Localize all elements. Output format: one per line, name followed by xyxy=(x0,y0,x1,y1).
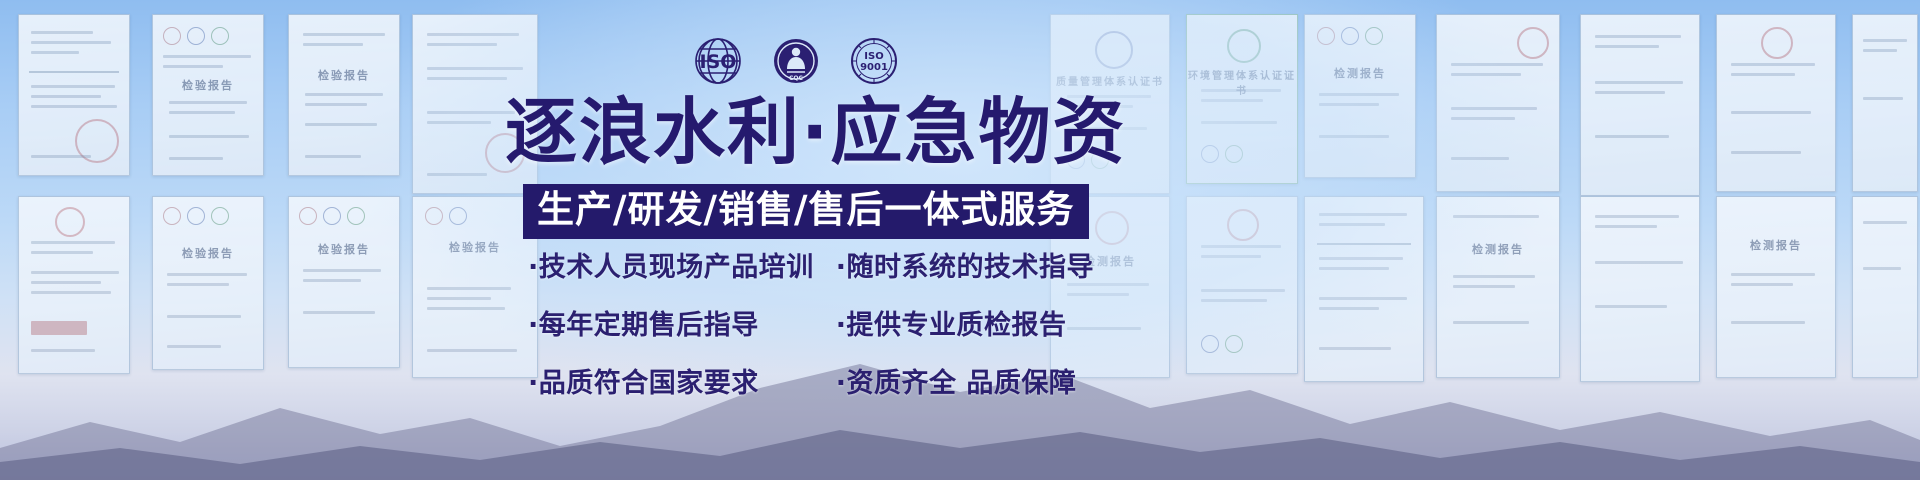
certificate-title: 检验报告 xyxy=(153,77,263,93)
certificate-thumbnail: 检验报告 xyxy=(152,14,264,176)
certificate-title: 检验报告 xyxy=(289,67,399,83)
certificate-thumbnail xyxy=(1580,14,1700,196)
certificate-title: 检验报告 xyxy=(153,245,263,261)
certificate-thumbnail xyxy=(1436,14,1560,192)
certificate-thumbnail xyxy=(1716,14,1836,192)
svg-text:CQC: CQC xyxy=(789,75,804,82)
certificate-thumbnail xyxy=(18,14,130,176)
certificate-thumbnail: 检验报告 xyxy=(288,14,400,176)
list-item: ·随时系统的技术指导 xyxy=(836,245,1094,284)
certificate-title: 检测报告 xyxy=(1305,65,1415,81)
feature-bullets-left-column: ·技术人员现场产品培训 ·每年定期售后指导 ·品质符合国家要求 xyxy=(528,245,814,400)
list-item: ·品质符合国家要求 xyxy=(528,361,814,400)
certificate-title: 环境管理体系认证证书 xyxy=(1187,67,1297,97)
page-title: 逐浪水利·应急物资 xyxy=(505,96,1126,168)
certification-badges: ISO CQC ISO 9001 xyxy=(690,30,890,92)
list-item: ·每年定期售后指导 xyxy=(528,303,814,342)
certificate-thumbnail: 检测报告 xyxy=(1304,14,1416,178)
feature-bullets-right-column: ·随时系统的技术指导 ·提供专业质检报告 ·资质齐全 品质保障 xyxy=(836,245,1094,400)
promo-banner: 检验报告 检验报告 质量管理体系认证书 xyxy=(0,0,1920,480)
certificate-title: 检测报告 xyxy=(1717,237,1835,253)
list-item: ·资质齐全 品质保障 xyxy=(836,361,1094,400)
cqc-person-icon: CQC xyxy=(768,33,824,89)
certificate-thumbnail: 环境管理体系认证证书 xyxy=(1186,14,1298,184)
svg-text:ISO: ISO xyxy=(700,51,737,73)
list-item: ·提供专业质检报告 xyxy=(836,303,1094,342)
iso-globe-icon: ISO xyxy=(690,33,746,89)
subtitle-bar: 生产/研发/销售/售后一体式服务 xyxy=(523,184,1089,239)
certificate-title: 检测报告 xyxy=(1437,241,1559,257)
certificate-title: 检验报告 xyxy=(289,241,399,257)
certificate-title: 检验报告 xyxy=(413,239,537,255)
svg-text:9001: 9001 xyxy=(860,62,888,73)
list-item: ·技术人员现场产品培训 xyxy=(528,245,814,284)
iso-9001-icon: ISO 9001 xyxy=(846,33,902,89)
feature-bullets: ·技术人员现场产品培训 ·每年定期售后指导 ·品质符合国家要求 ·随时系统的技术… xyxy=(528,245,1068,400)
certificate-thumbnail xyxy=(1852,14,1918,192)
certificate-title: 质量管理体系认证书 xyxy=(1051,73,1169,88)
svg-text:ISO: ISO xyxy=(864,51,883,62)
